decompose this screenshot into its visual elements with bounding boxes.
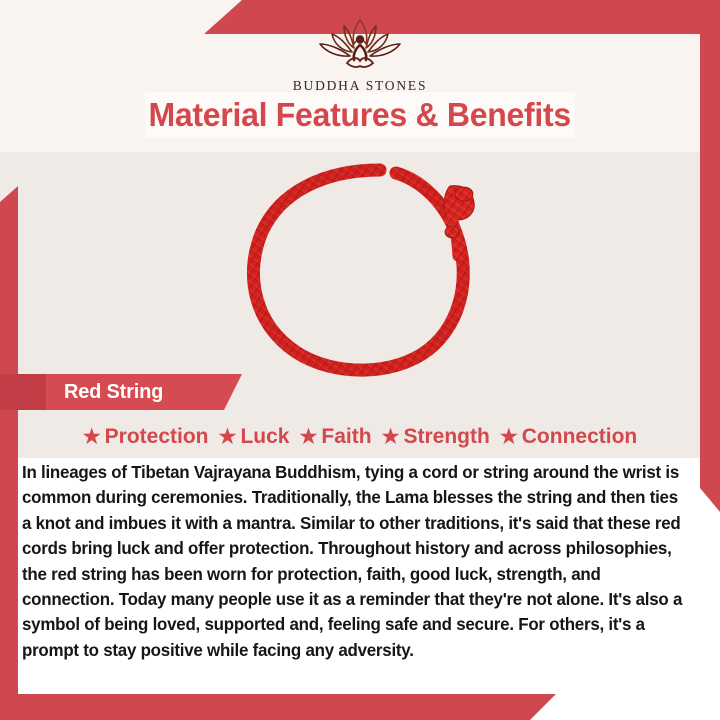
page-title: Material Features & Benefits xyxy=(149,96,571,134)
benefit-item-protection: ★ Protection xyxy=(78,425,214,449)
star-icon: ★ xyxy=(219,427,237,447)
bottom-red-bar-decoration xyxy=(0,694,556,720)
star-icon: ★ xyxy=(83,427,101,447)
product-label: Red String xyxy=(64,381,163,404)
benefit-item-strength: ★ Strength xyxy=(377,425,495,449)
page-title-banner: Material Features & Benefits xyxy=(145,92,575,138)
red-string-bracelet-image xyxy=(228,162,500,382)
benefit-label: Faith xyxy=(321,425,371,449)
benefits-row: ★ Protection ★ Luck ★ Faith ★ Strength ★… xyxy=(0,420,720,454)
label-accent-block xyxy=(0,374,46,410)
star-icon: ★ xyxy=(299,427,317,447)
lotus-meditation-icon xyxy=(314,14,406,76)
star-icon: ★ xyxy=(382,427,400,447)
brand-logo: BUDDHA STONES xyxy=(0,14,720,94)
star-icon: ★ xyxy=(500,427,518,447)
benefit-label: Protection xyxy=(105,425,209,449)
benefit-label: Strength xyxy=(404,425,490,449)
infographic-page: BUDDHA STONES Material Features & Benefi… xyxy=(0,0,720,720)
benefit-item-luck: ★ Luck xyxy=(214,425,295,449)
benefit-item-connection: ★ Connection xyxy=(495,425,642,449)
description-text: In lineages of Tibetan Vajrayana Buddhis… xyxy=(22,460,688,663)
benefit-label: Luck xyxy=(240,425,289,449)
benefit-item-faith: ★ Faith xyxy=(294,425,376,449)
benefit-label: Connection xyxy=(522,425,638,449)
product-label-banner: Red String xyxy=(0,374,242,410)
